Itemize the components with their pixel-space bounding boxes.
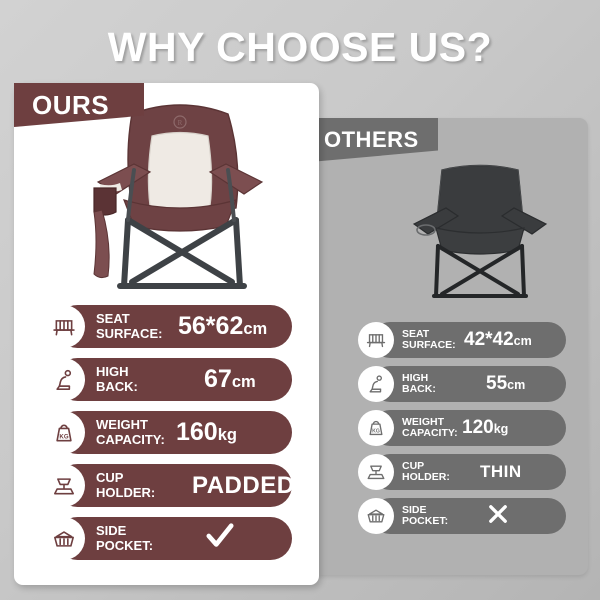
svg-text:KG: KG [59, 433, 68, 440]
seat-profile-icon [42, 358, 85, 401]
spec-value: 160kg [176, 418, 237, 447]
spec-row-high-back: HIGH BACK: 67cm [42, 358, 292, 401]
row-pill [56, 411, 292, 454]
check-icon [204, 522, 236, 555]
spec-value: 120kg [462, 417, 508, 439]
spec-label: SIDE POCKET: [402, 505, 460, 528]
cross-icon [486, 502, 510, 531]
ours-spec-list: SEAT SURFACE: 56*62cm HIGH BACK: 67cm [42, 305, 292, 570]
row-pill [56, 358, 292, 401]
kg-weight-icon: KG [358, 410, 394, 446]
spec-value: 56*62cm [178, 312, 267, 341]
seat-profile-icon [358, 366, 394, 402]
comparison-infographic: WHY CHOOSE US? [0, 0, 600, 600]
spec-label: CUP HOLDER: [402, 461, 460, 484]
spec-row-cup-holder: CUP HOLDER: THIN [358, 454, 566, 490]
basket-icon [358, 498, 394, 534]
row-pill [56, 517, 292, 560]
basket-icon [42, 517, 85, 560]
spec-label: WEIGHT CAPACITY: [96, 418, 170, 446]
cup-holder-icon [358, 454, 394, 490]
spec-row-weight-capacity: KG WEIGHT CAPACITY: 120kg [358, 410, 566, 446]
cup-holder-icon [42, 464, 85, 507]
spec-value: THIN [480, 462, 522, 482]
spec-row-seat-surface: SEAT SURFACE: 42*42cm [358, 322, 566, 358]
spec-label: HIGH BACK: [96, 365, 170, 393]
svg-text:R: R [178, 119, 183, 127]
spec-row-high-back: HIGH BACK: 55cm [358, 366, 566, 402]
svg-text:KG: KG [372, 429, 380, 435]
spec-row-cup-holder: CUP HOLDER: PADDED [42, 464, 292, 507]
page-title: WHY CHOOSE US? [0, 24, 600, 71]
chair-icon [42, 305, 85, 348]
spec-label: CUP HOLDER: [96, 471, 170, 499]
spec-label: SEAT SURFACE: [96, 312, 170, 340]
others-product-image [400, 148, 560, 304]
ours-badge-label: OURS [14, 90, 109, 121]
spec-row-seat-surface: SEAT SURFACE: 56*62cm [42, 305, 292, 348]
spec-value: 67cm [204, 365, 256, 394]
spec-label: HIGH BACK: [402, 373, 460, 396]
spec-label: SEAT SURFACE: [402, 329, 460, 352]
others-spec-list: SEAT SURFACE: 42*42cm HIGH BACK: 55cm [358, 322, 566, 542]
spec-value: 55cm [486, 373, 525, 395]
spec-label: WEIGHT CAPACITY: [402, 417, 460, 440]
spec-value: 42*42cm [464, 329, 532, 351]
kg-weight-icon: KG [42, 411, 85, 454]
others-badge-label: OTHERS [310, 127, 419, 153]
spec-row-side-pocket: SIDE POCKET: [358, 498, 566, 534]
spec-row-side-pocket: SIDE POCKET: [42, 517, 292, 560]
spec-label: SIDE POCKET: [96, 524, 170, 552]
spec-row-weight-capacity: KG WEIGHT CAPACITY: 160kg [42, 411, 292, 454]
chair-icon [358, 322, 394, 358]
spec-value: PADDED [192, 472, 295, 500]
